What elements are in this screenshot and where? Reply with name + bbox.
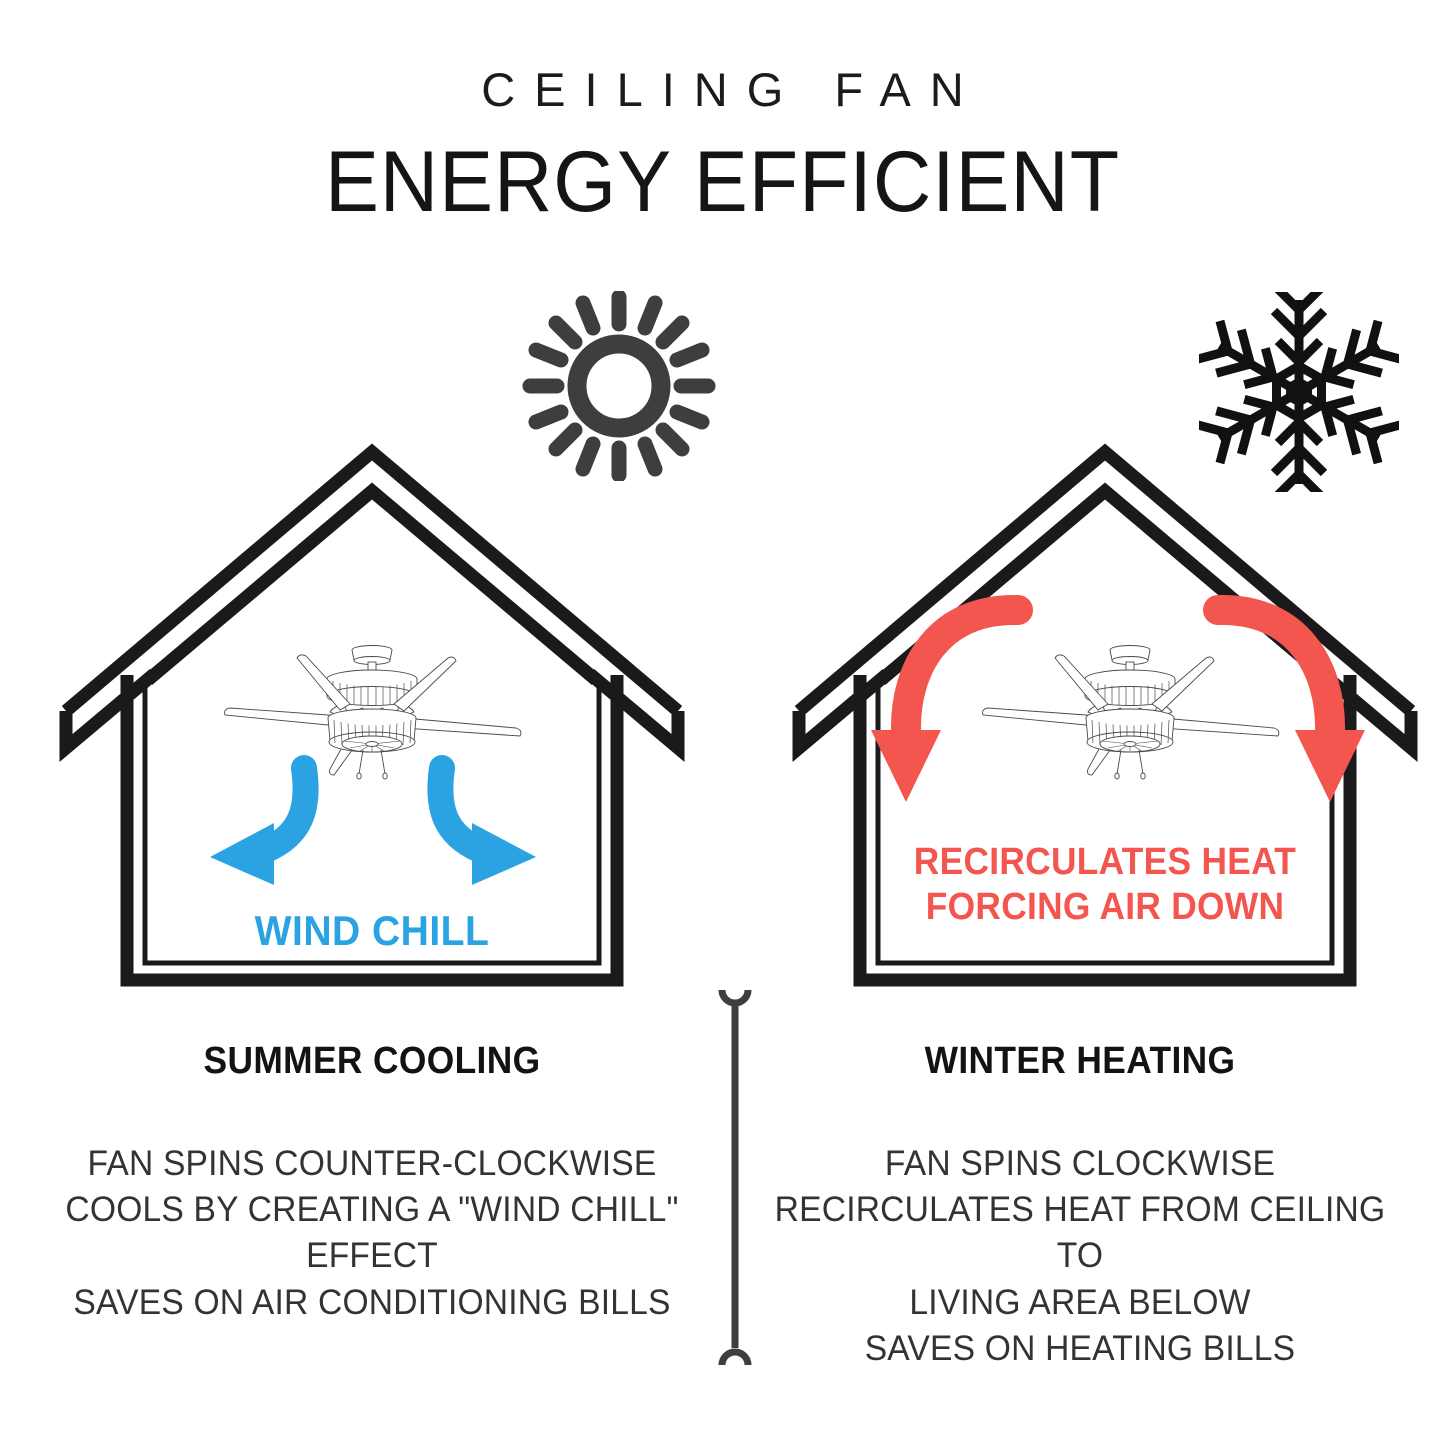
kicker-title: CEILING FAN xyxy=(0,62,1445,117)
summer-body: FAN SPINS COUNTER-CLOCKWISE COOLS BY CRE… xyxy=(46,1141,699,1326)
infographic-canvas: CEILING FAN ENERGY EFFICIENT xyxy=(0,0,1445,1445)
ceiling-fan-icon xyxy=(980,638,1280,783)
panel-summer: WIND CHILL xyxy=(42,430,702,1010)
caption-winter: WINTER HEATING FAN SPINS CLOCKWISE RECIR… xyxy=(740,1040,1420,1372)
recirculate-heat-label: RECIRCULATES HEAT FORCING AIR DOWN xyxy=(798,840,1412,930)
page-title: ENERGY EFFICIENT xyxy=(43,133,1401,232)
winter-heading: WINTER HEATING xyxy=(764,1040,1396,1083)
wind-chill-label: WIND CHILL xyxy=(65,906,679,956)
ceiling-fan-icon xyxy=(222,638,522,783)
caption-summer: SUMMER COOLING FAN SPINS COUNTER-CLOCKWI… xyxy=(32,1040,712,1326)
winter-body: FAN SPINS CLOCKWISE RECIRCULATES HEAT FR… xyxy=(754,1141,1407,1372)
summer-heading: SUMMER COOLING xyxy=(56,1040,688,1083)
panel-winter: RECIRCULATES HEAT FORCING AIR DOWN xyxy=(775,430,1435,1010)
